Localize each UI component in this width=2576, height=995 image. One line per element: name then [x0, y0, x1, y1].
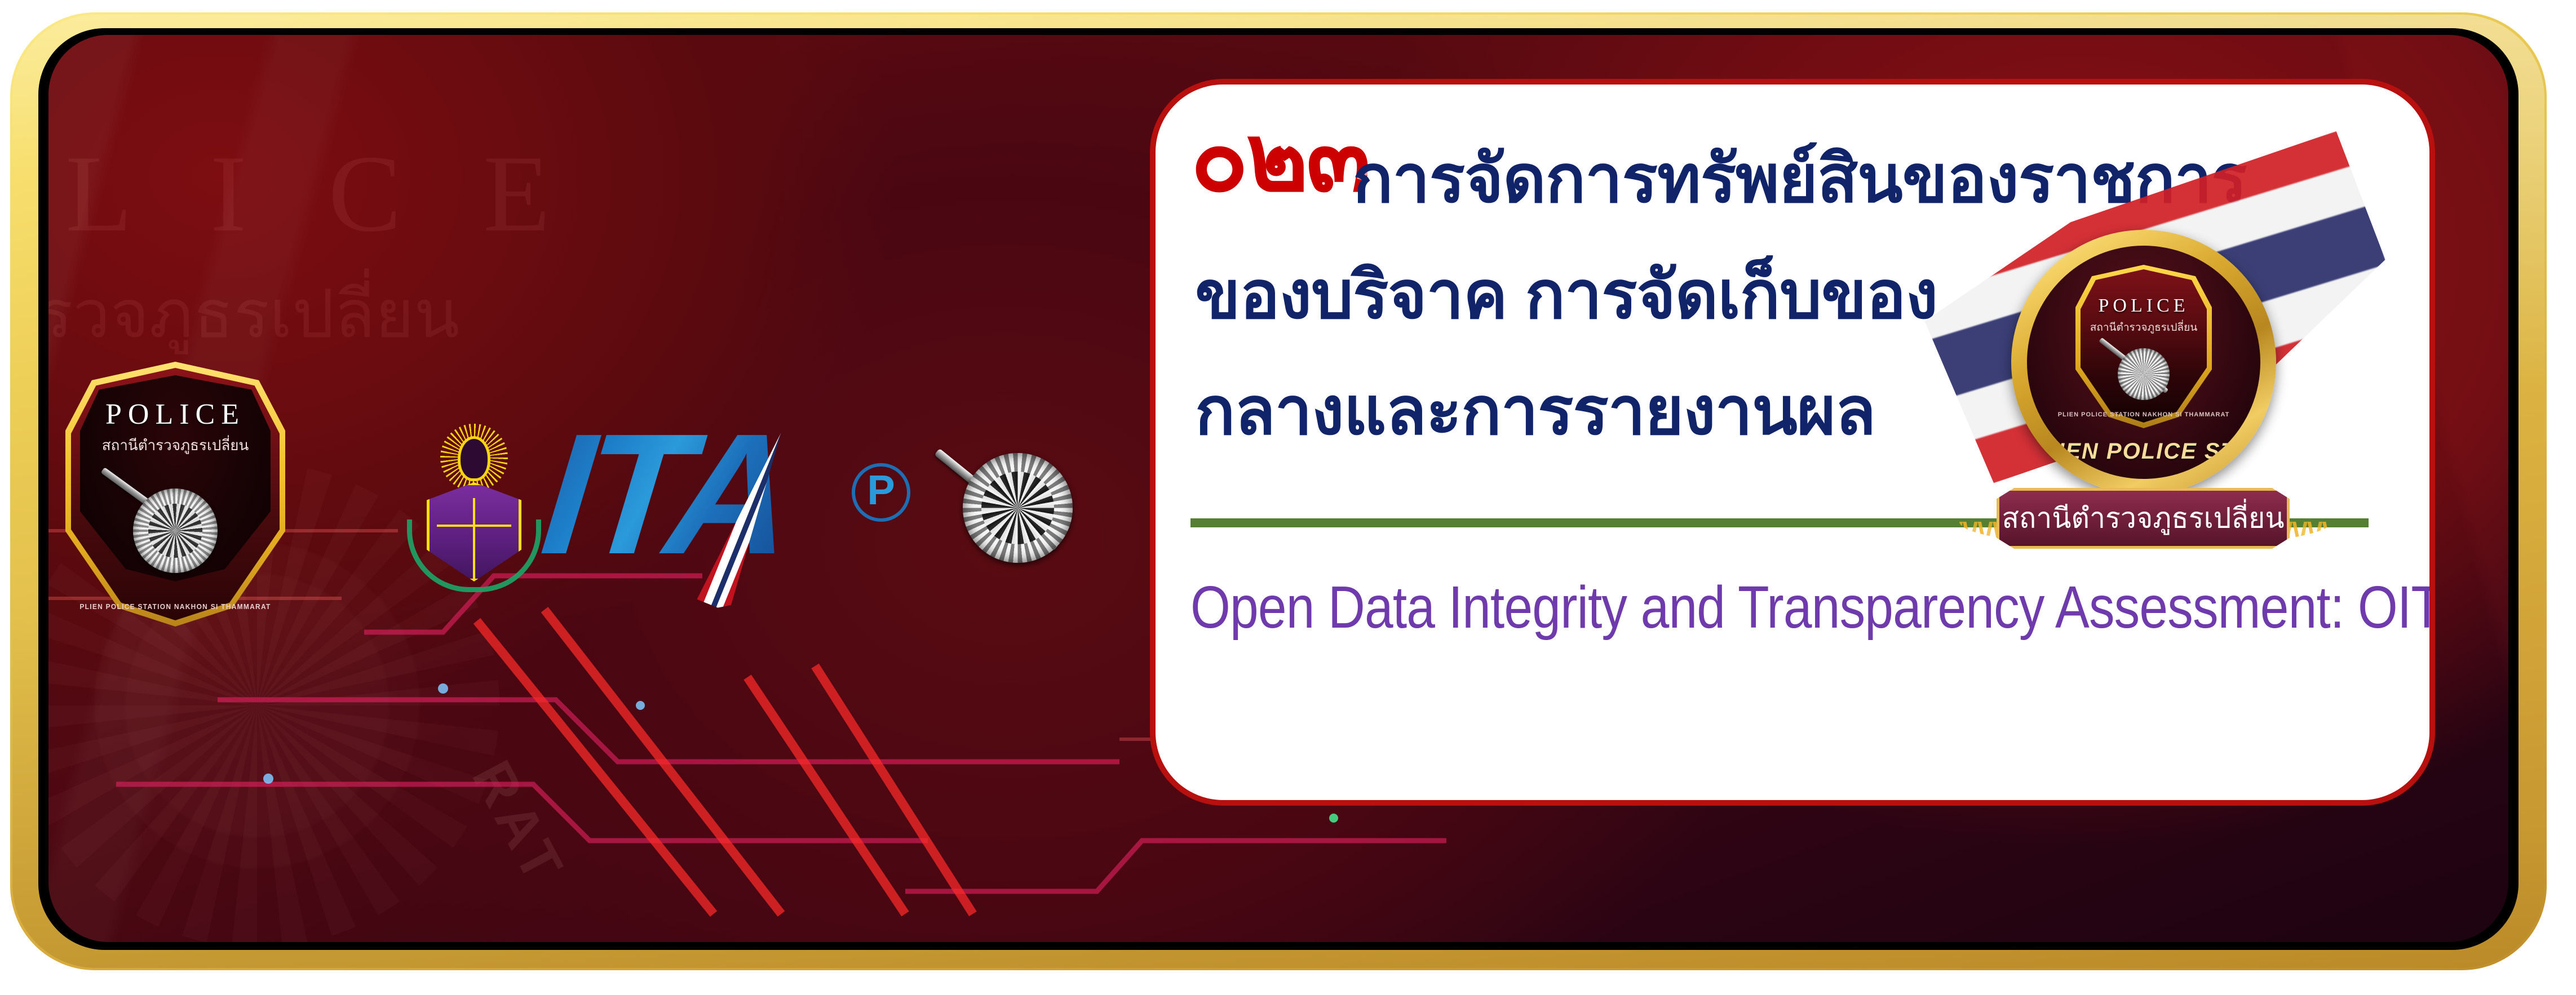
- police-shield-badge: POLICE สถานีตำรวจภูธรเปลี่ยน PLIEN POLIC…: [65, 362, 285, 627]
- gold-seal-ring: POLICE สถานีตำรวจภูธรเปลี่ยน PLIEN POLIC…: [2011, 230, 2276, 495]
- badge-police-label: POLICE: [65, 398, 285, 431]
- ita-logo: ITA P: [545, 407, 905, 610]
- seal-arc-label: PLIEN POLICE STATION NAKHON SI THAMMARAT: [2027, 411, 2260, 418]
- registered-p-icon: P: [852, 463, 910, 522]
- document-number: ๐๒๓: [1190, 110, 1369, 205]
- banner-root: L I C E รวจภูธรเปลี่ยน RAT: [0, 0, 2576, 995]
- badge-thai-label: สถานีตำรวจภูธรเปลี่ยน: [65, 434, 285, 457]
- seal-face: POLICE สถานีตำรวจภูธรเปลี่ยน PLIEN POLIC…: [2027, 246, 2260, 479]
- seal-thai-label: สถานีตำรวจภูธรเปลี่ยน: [2027, 319, 2260, 336]
- crown-icon: [440, 424, 508, 491]
- seal-police-label: POLICE: [2027, 295, 2260, 317]
- station-name-label: สถานีตำรวจภูธรเปลี่ยน: [1999, 496, 2287, 541]
- chaling-emblem: [928, 418, 1097, 587]
- title-line-3: กลางและการรายงานผล: [1195, 357, 1875, 463]
- seal-chakra-icon: [2118, 348, 2170, 400]
- chaling-disc-icon: [963, 453, 1073, 563]
- nacc-emblem: [415, 424, 533, 593]
- title-line-2: ของบริจาค การจัดเก็บของ: [1195, 241, 1937, 347]
- chakra-icon: [133, 488, 218, 573]
- station-name-plate: สถานีตำรวจภูธรเปลี่ยน: [1997, 488, 2290, 549]
- badge-arc-label: PLIEN POLICE STATION NAKHON SI THAMMARAT: [74, 602, 277, 611]
- seal-band-label: PLIEN POLICE STATION: [2027, 439, 2260, 464]
- watermark-english: L I C E: [65, 131, 577, 257]
- station-round-emblem: POLICE สถานีตำรวจภูธรเปลี่ยน PLIEN POLIC…: [1905, 186, 2413, 592]
- watermark-thai: รวจภูธรเปลี่ยน: [48, 260, 459, 366]
- watermark-rotated: RAT: [459, 750, 578, 898]
